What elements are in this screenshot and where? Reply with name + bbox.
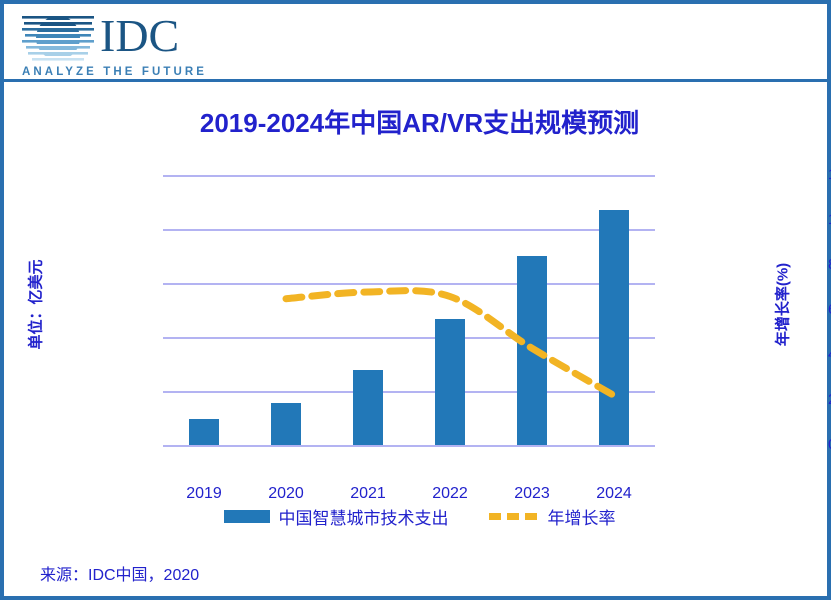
logo-tagline: ANALYZE THE FUTURE (22, 66, 207, 78)
growth-rate-line-series (163, 175, 655, 445)
legend-label: 年增长率 (548, 504, 616, 529)
legend-dashed-line-icon (489, 513, 539, 520)
chart-title: 2019-2024年中国AR/VR支出规模预测 (4, 103, 831, 140)
logo-wordmark: IDC (100, 8, 179, 64)
chart-legend: 中国智慧城市技术支出年增长率 (4, 504, 831, 529)
y-axis-title-right: 年增长率(%) (772, 245, 793, 365)
x-axis-tick-2020: 2020 (245, 485, 327, 503)
header-bar: IDC ANALYZE THE FUTURE (4, 4, 827, 82)
legend-item-0[interactable]: 中国智慧城市技术支出 (224, 504, 449, 529)
gridline (163, 445, 655, 447)
source-note: 来源：IDC中国，2020 (40, 561, 199, 585)
x-axis-tick-2019: 2019 (163, 485, 245, 503)
legend-label: 中国智慧城市技术支出 (279, 504, 449, 529)
x-axis-tick-2023: 2023 (491, 485, 573, 503)
y-axis-title-left: 单位：亿美元 (25, 245, 46, 365)
chart-page: IDC ANALYZE THE FUTURE 2019-2024年中国AR/VR… (0, 0, 831, 600)
x-axis-tick-2022: 2022 (409, 485, 491, 503)
striped-globe-icon (22, 12, 94, 64)
growth-rate-line (286, 291, 614, 396)
legend-item-1[interactable]: 年增长率 (489, 504, 616, 529)
x-axis-tick-2024: 2024 (573, 485, 655, 503)
x-axis-tick-2021: 2021 (327, 485, 409, 503)
legend-bar-swatch-icon (224, 510, 270, 523)
idc-logo: IDC ANALYZE THE FUTURE (18, 10, 208, 76)
chart-canvas: 单位：亿美元 年增长率(%) 0.0050.00100.00150.00200.… (4, 144, 831, 474)
